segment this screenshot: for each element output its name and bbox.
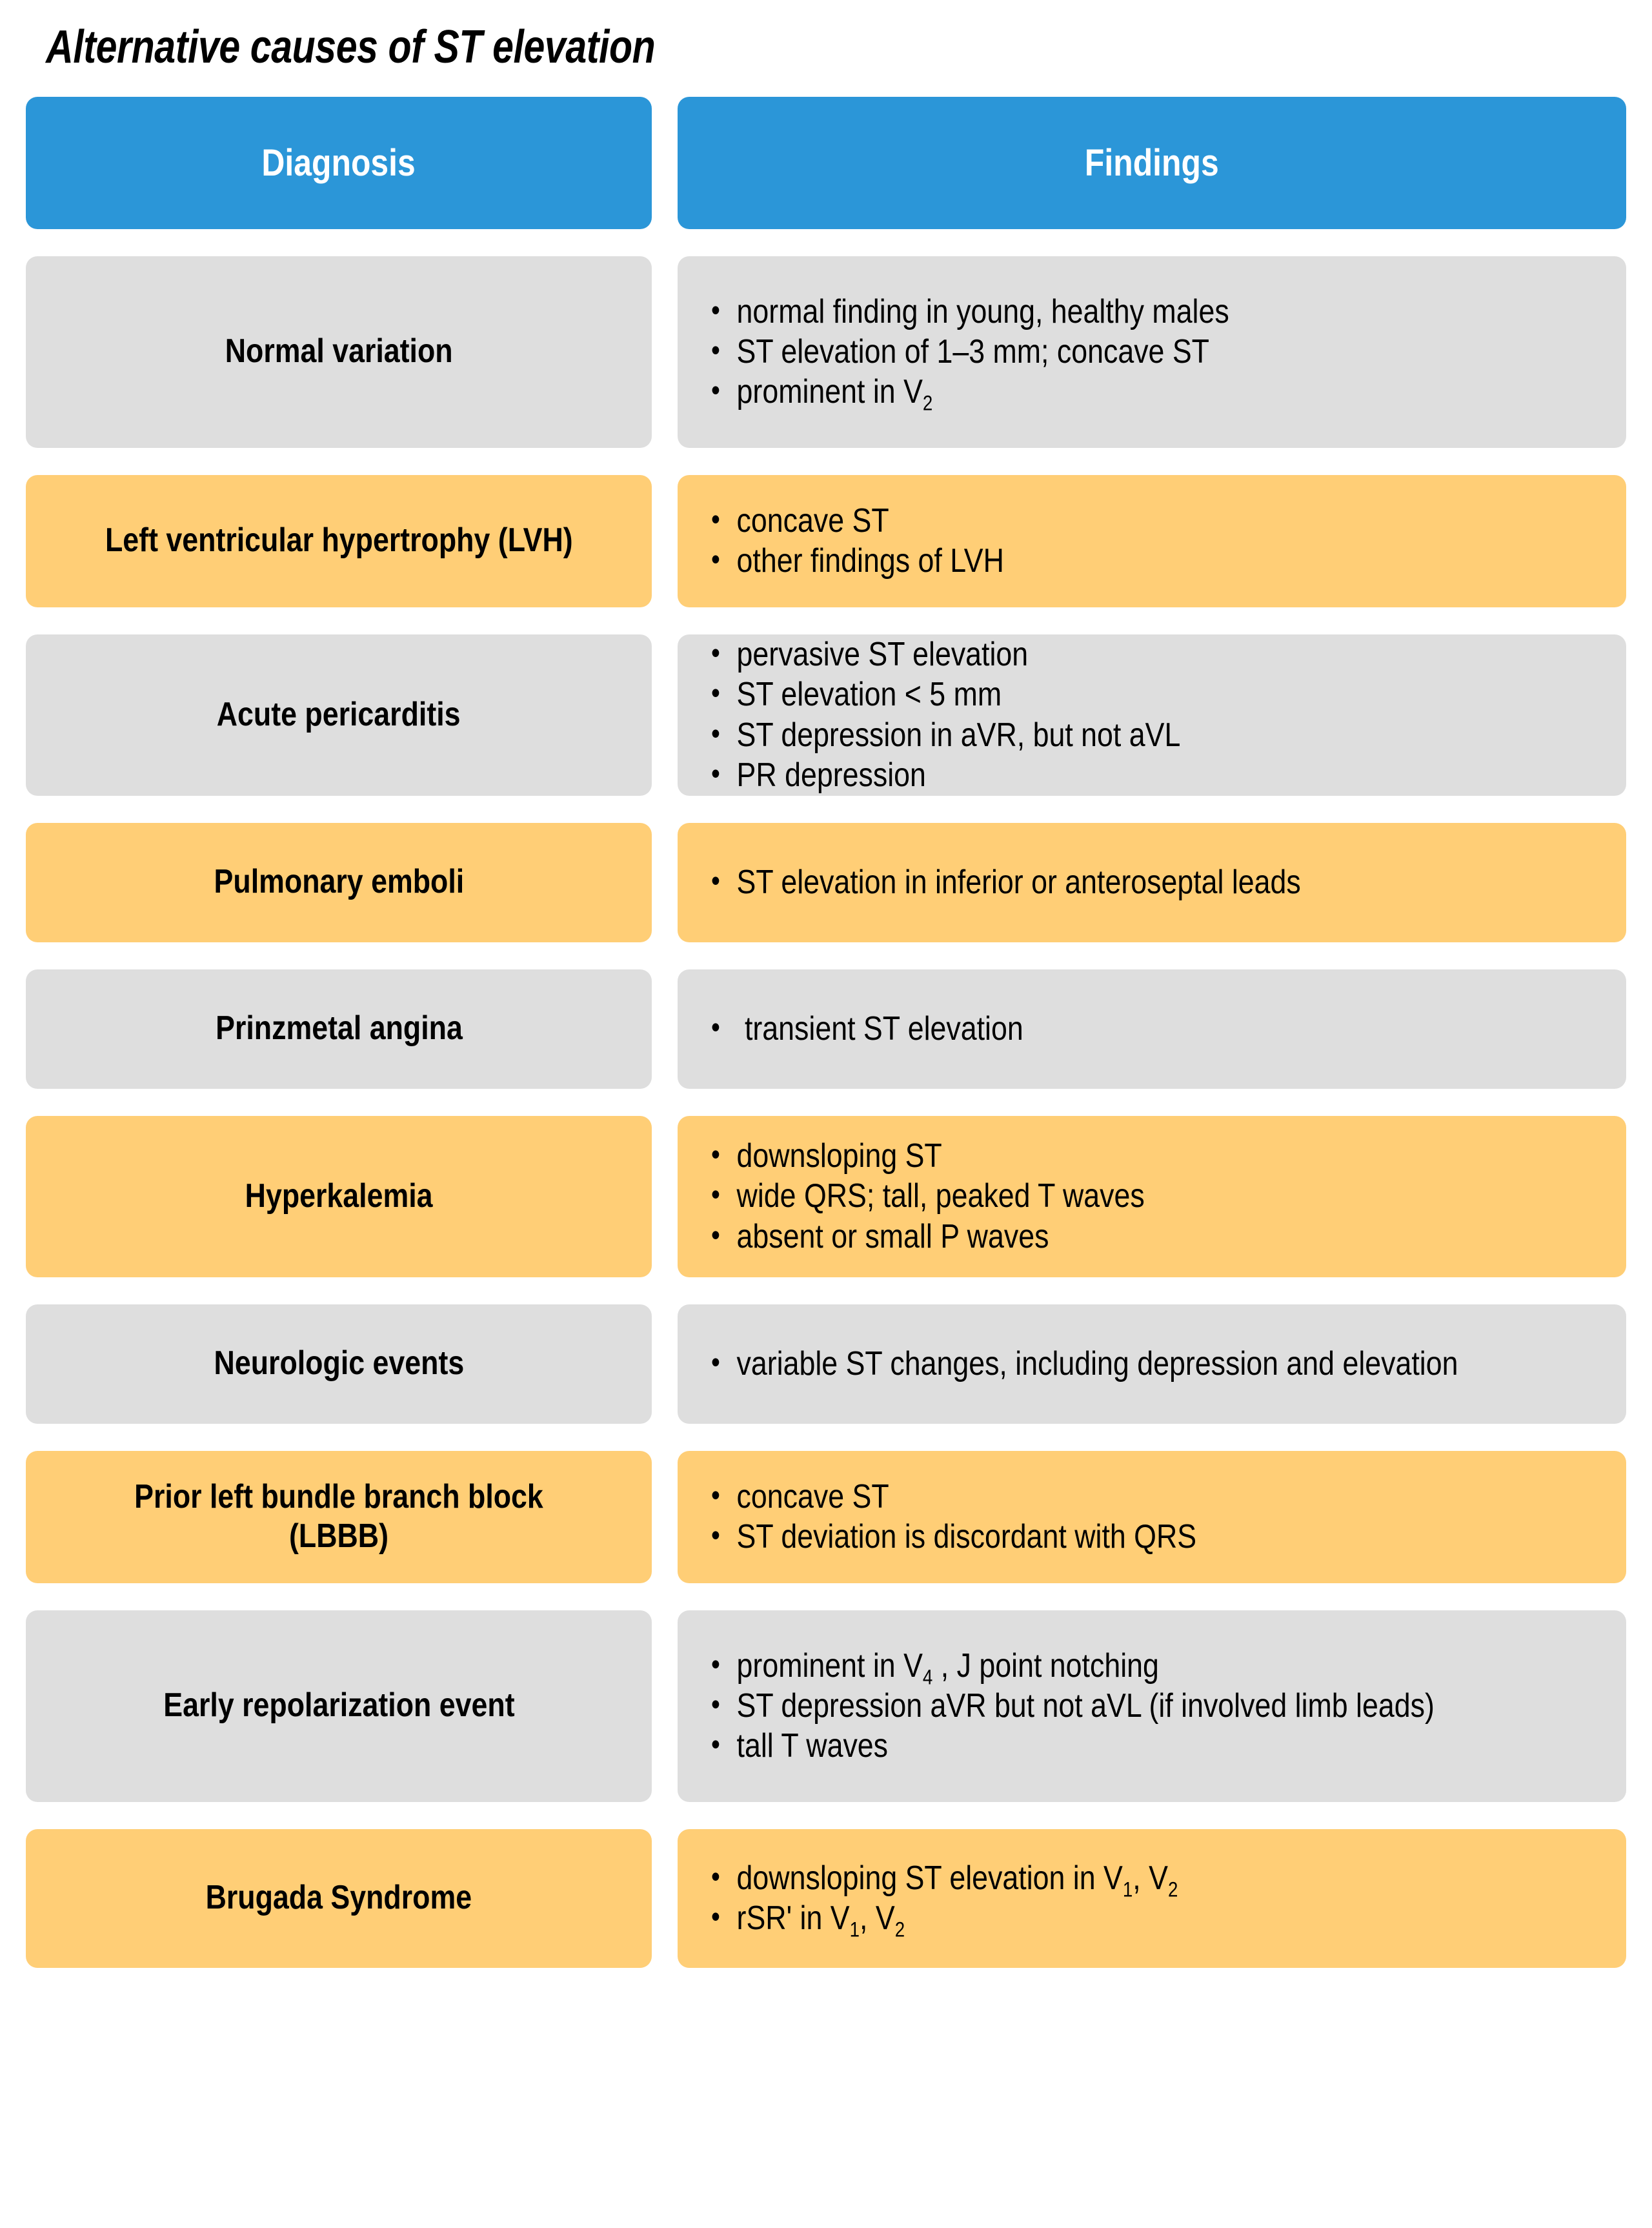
findings-list: transient ST elevation (678, 1009, 1626, 1049)
table-row: Brugada Syndromedownsloping ST elevation… (26, 1829, 1626, 1968)
diagnosis-label: Prior left bundle branch block (LBBB) (70, 1477, 608, 1557)
findings-item: rSR' in V1, V2 (711, 1898, 1482, 1938)
table-header-row: Diagnosis Findings (26, 97, 1626, 229)
findings-item: prominent in V4 , J point notching (711, 1646, 1482, 1686)
diagnosis-label: Neurologic events (195, 1344, 483, 1383)
header-cell-diagnosis: Diagnosis (26, 97, 652, 229)
findings-item: concave ST (711, 1477, 1482, 1517)
table-row: Left ventricular hypertrophy (LVH)concav… (26, 475, 1626, 607)
lead-subscript: 2 (1168, 1878, 1178, 1901)
diagnosis-cell: Normal variation (26, 256, 652, 448)
findings-item: wide QRS; tall, peaked T waves (711, 1176, 1482, 1216)
findings-cell: normal finding in young, healthy malesST… (678, 256, 1626, 448)
findings-item: downsloping ST (711, 1136, 1482, 1176)
diagnosis-label: Prinzmetal angina (196, 1009, 481, 1048)
diagnosis-label: Normal variation (206, 332, 471, 371)
findings-item: PR depression (711, 755, 1482, 795)
findings-item: ST elevation of 1–3 mm; concave ST (711, 332, 1482, 372)
table-row: Pulmonary emboliST elevation in inferior… (26, 823, 1626, 942)
diagnosis-label: Pulmonary emboli (195, 862, 483, 902)
diagnosis-cell: Left ventricular hypertrophy (LVH) (26, 475, 652, 607)
diagnosis-label: Left ventricular hypertrophy (LVH) (86, 521, 591, 560)
findings-list: variable ST changes, including depressio… (678, 1344, 1626, 1384)
findings-list: downsloping STwide QRS; tall, peaked T w… (678, 1136, 1626, 1257)
findings-item: ST deviation is discordant with QRS (711, 1517, 1482, 1557)
findings-list: normal finding in young, healthy malesST… (678, 292, 1626, 412)
table-row: Prior left bundle branch block (LBBB)con… (26, 1451, 1626, 1583)
page-title: Alternative causes of ST elevation (26, 0, 1338, 72)
header-label-diagnosis: Diagnosis (262, 141, 416, 185)
diagnosis-label: Hyperkalemia (226, 1177, 451, 1216)
findings-item: ST elevation < 5 mm (711, 674, 1482, 714)
header-cell-findings: Findings (678, 97, 1626, 229)
lead-subscript: 1 (1123, 1878, 1133, 1901)
findings-cell: concave STST deviation is discordant wit… (678, 1451, 1626, 1583)
findings-cell: downsloping STwide QRS; tall, peaked T w… (678, 1116, 1626, 1277)
findings-item: prominent in V2 (711, 372, 1482, 412)
findings-cell: concave STother findings of LVH (678, 475, 1626, 607)
table-row: Normal variationnormal finding in young,… (26, 256, 1626, 448)
diagnosis-cell: Early repolarization event (26, 1610, 652, 1802)
table-row: Acute pericarditispervasive ST elevation… (26, 634, 1626, 796)
lead-subscript: 4 (923, 1665, 932, 1688)
diagnosis-cell: Prior left bundle branch block (LBBB) (26, 1451, 652, 1583)
findings-item: pervasive ST elevation (711, 634, 1482, 674)
findings-item: variable ST changes, including depressio… (711, 1344, 1482, 1384)
diagnosis-label: Early repolarization event (145, 1686, 534, 1725)
findings-list: concave STST deviation is discordant wit… (678, 1477, 1626, 1557)
findings-list: pervasive ST elevationST elevation < 5 m… (678, 634, 1626, 796)
findings-list: downsloping ST elevation in V1, V2rSR' i… (678, 1858, 1626, 1939)
findings-cell: pervasive ST elevationST elevation < 5 m… (678, 634, 1626, 796)
diagnosis-cell: Prinzmetal angina (26, 969, 652, 1089)
table-row: Hyperkalemiadownsloping STwide QRS; tall… (26, 1116, 1626, 1277)
header-label-findings: Findings (1085, 141, 1219, 185)
findings-item: tall T waves (711, 1726, 1482, 1766)
findings-list: concave STother findings of LVH (678, 501, 1626, 582)
lead-subscript: 2 (923, 392, 932, 415)
findings-item: transient ST elevation (711, 1009, 1482, 1049)
table-row: Neurologic eventsvariable ST changes, in… (26, 1304, 1626, 1424)
table-body: Normal variationnormal finding in young,… (26, 256, 1626, 1968)
diagnosis-cell: Acute pericarditis (26, 634, 652, 796)
diagnosis-cell: Pulmonary emboli (26, 823, 652, 942)
findings-cell: transient ST elevation (678, 969, 1626, 1089)
lead-subscript: 2 (895, 1918, 905, 1941)
table-row: Prinzmetal angina transient ST elevation (26, 969, 1626, 1089)
findings-cell: prominent in V4 , J point notchingST dep… (678, 1610, 1626, 1802)
findings-item: ST elevation in inferior or anteroseptal… (711, 862, 1482, 902)
findings-list: ST elevation in inferior or anteroseptal… (678, 862, 1626, 902)
findings-cell: ST elevation in inferior or anteroseptal… (678, 823, 1626, 942)
findings-cell: downsloping ST elevation in V1, V2rSR' i… (678, 1829, 1626, 1968)
diagnosis-cell: Neurologic events (26, 1304, 652, 1424)
diagnosis-cell: Brugada Syndrome (26, 1829, 652, 1968)
diagnosis-label: Acute pericarditis (198, 695, 479, 734)
diagnosis-cell: Hyperkalemia (26, 1116, 652, 1277)
lead-subscript: 1 (850, 1918, 860, 1941)
st-elevation-table-page: Alternative causes of ST elevation Diagn… (0, 0, 1652, 2228)
table-row: Early repolarization eventprominent in V… (26, 1610, 1626, 1802)
findings-item: absent or small P waves (711, 1217, 1482, 1257)
alternative-causes-table: Diagnosis Findings Normal variationnorma… (26, 97, 1626, 1968)
findings-item: concave ST (711, 501, 1482, 541)
findings-item: ST depression aVR but not aVL (if involv… (711, 1686, 1482, 1726)
findings-item: other findings of LVH (711, 541, 1482, 581)
findings-item: ST depression in aVR, but not aVL (711, 715, 1482, 755)
diagnosis-label: Brugada Syndrome (187, 1878, 491, 1918)
findings-item: downsloping ST elevation in V1, V2 (711, 1858, 1482, 1898)
findings-list: prominent in V4 , J point notchingST dep… (678, 1646, 1626, 1767)
findings-item: normal finding in young, healthy males (711, 292, 1482, 332)
findings-cell: variable ST changes, including depressio… (678, 1304, 1626, 1424)
